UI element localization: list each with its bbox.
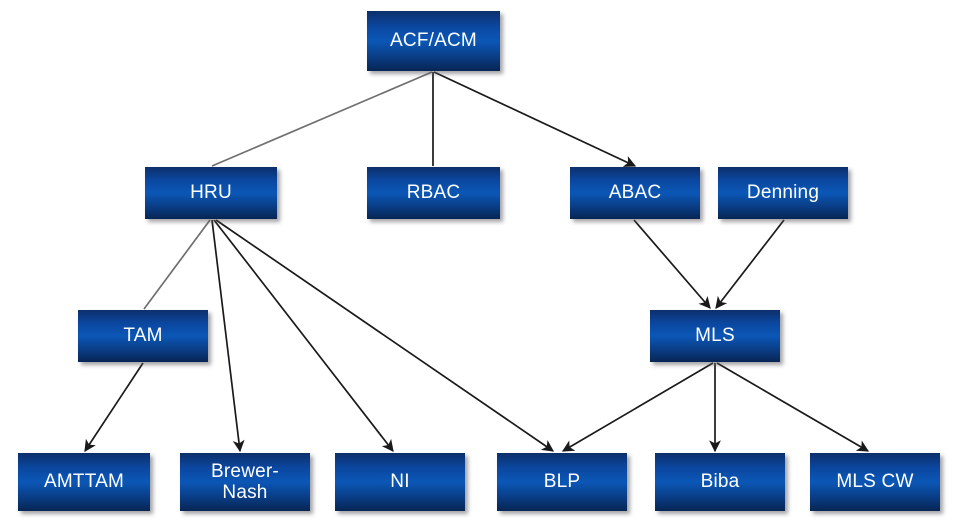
node-abac[interactable]: ABAC [570,167,700,219]
node-label-brewer_nash: Brewer- Nash [207,461,283,504]
node-label-hru: HRU [186,182,236,203]
node-blp[interactable]: BLP [497,453,627,511]
node-mls_cw[interactable]: MLS CW [810,453,940,511]
edge-hru-blp [216,220,553,451]
edge-layer [0,0,955,521]
node-label-biba: Biba [697,471,744,492]
node-hru[interactable]: HRU [145,167,277,219]
node-brewer_nash[interactable]: Brewer- Nash [180,453,310,511]
edge-mls-mlscw [717,363,868,451]
node-label-mls: MLS [691,325,739,346]
node-denning[interactable]: Denning [718,167,848,219]
edge-hru-brewer [212,220,240,451]
edge-acf-abac [434,72,635,166]
edge-tam-amttam [85,363,143,451]
node-mls[interactable]: MLS [650,310,780,362]
edge-hru-ni [214,220,393,451]
node-rbac[interactable]: RBAC [367,167,500,219]
edge-mls-blp [563,363,713,451]
node-label-tam: TAM [119,325,166,346]
node-label-rbac: RBAC [403,182,465,203]
diagram-canvas: ACF/ACMHRURBACABACDenningTAMMLSAMTTAMBre… [0,0,955,521]
node-label-amttam: AMTTAM [40,471,128,492]
node-label-ni: NI [386,471,413,492]
edge-acf-hru [212,72,432,166]
edge-abac-mls [634,220,710,308]
node-label-acf_acm: ACF/ACM [386,30,481,51]
node-label-abac: ABAC [605,182,666,203]
node-label-blp: BLP [540,471,585,492]
node-tam[interactable]: TAM [78,310,208,362]
node-label-denning: Denning [743,182,823,203]
edge-denning-mls [716,220,784,308]
node-amttam[interactable]: AMTTAM [18,453,150,511]
node-acf_acm[interactable]: ACF/ACM [367,11,500,71]
node-biba[interactable]: Biba [655,453,785,511]
node-ni[interactable]: NI [335,453,465,511]
node-label-mls_cw: MLS CW [832,471,917,492]
edge-hru-tam [144,220,210,309]
